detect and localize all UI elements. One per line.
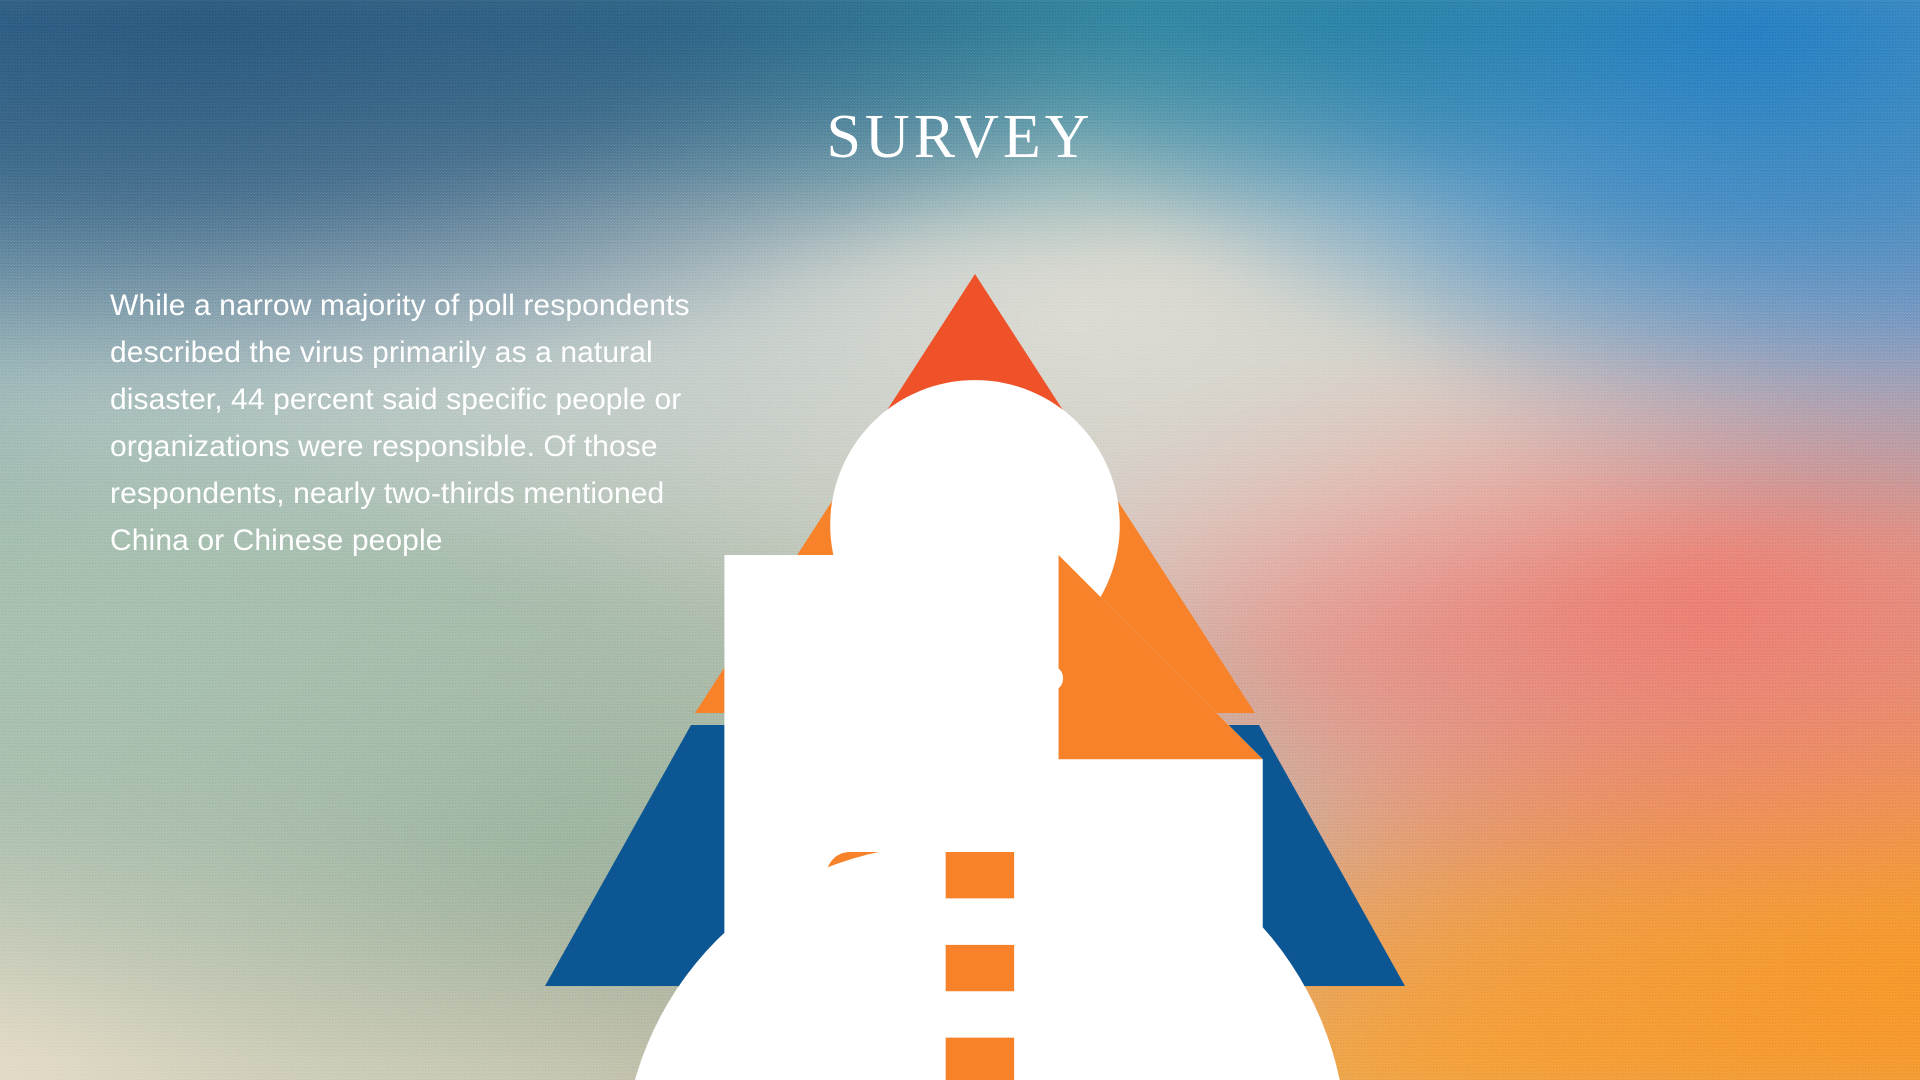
survey-slide: SURVEY While a narrow majority of poll r… [0, 0, 1920, 1080]
pyramid-band-one-label: STEP ONE [510, 445, 1440, 474]
pyramid-band-two-label: STEP TWO [510, 660, 1440, 698]
pyramid-diagram: STEP ONE STEP TWO STEP THREE [510, 268, 1440, 992]
page-title: SURVEY [0, 106, 1920, 168]
pyramid-band-three-label: STEP THREE [510, 906, 1440, 948]
